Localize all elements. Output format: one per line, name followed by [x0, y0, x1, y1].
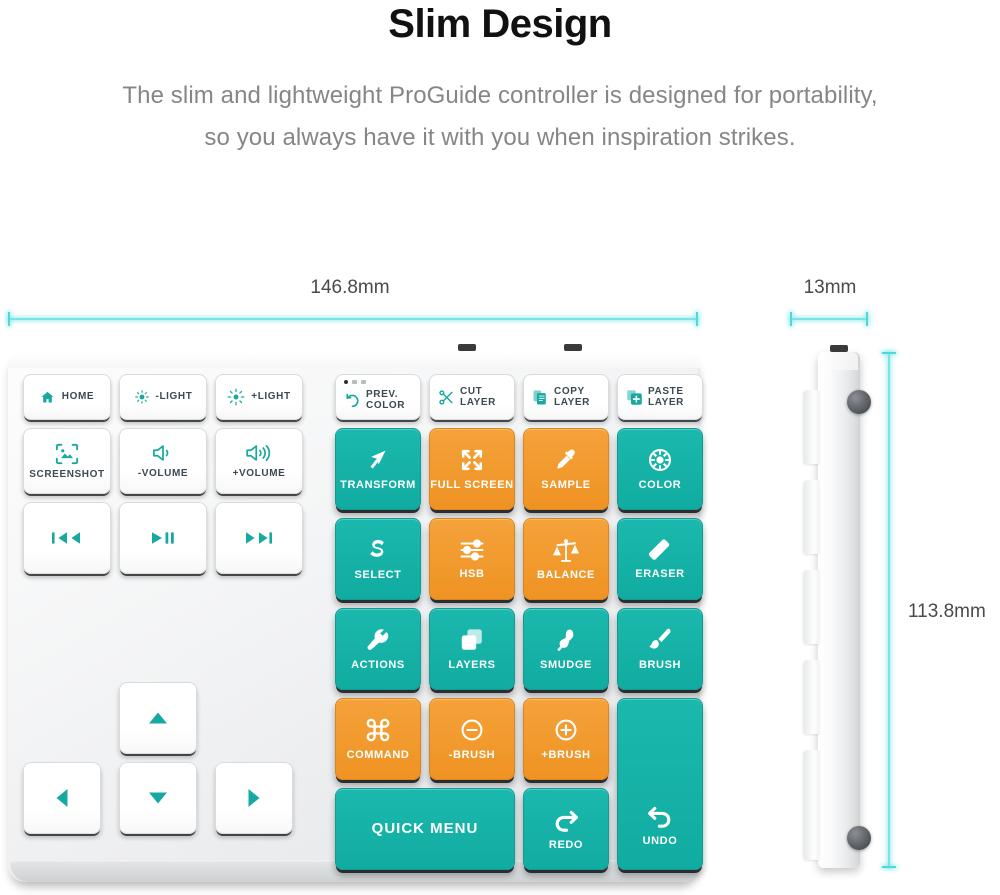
- previous-track-icon: [50, 528, 84, 548]
- key-label: SELECT: [355, 570, 402, 582]
- key-label: ERASER: [635, 569, 684, 581]
- side-rubber-foot-bottom: [847, 826, 871, 850]
- eyedropper-icon: [553, 447, 579, 473]
- side-key-edge: [804, 660, 820, 734]
- key-label: TRANSFORM: [340, 480, 416, 492]
- key-redo[interactable]: REDO: [523, 788, 609, 870]
- key-cut-layer[interactable]: CUT LAYER: [429, 374, 515, 420]
- key-brush[interactable]: BRUSH: [617, 608, 703, 690]
- subtitle-line-2: so you always have it with you when insp…: [0, 117, 1000, 159]
- arrow-down-icon: [146, 790, 170, 806]
- side-rubber-foot-top: [847, 390, 871, 414]
- key-brush-up[interactable]: +BRUSH: [523, 698, 609, 780]
- key-arrow-left[interactable]: [23, 762, 101, 834]
- key-hsb[interactable]: HSB: [429, 518, 515, 600]
- key-label: SMUDGE: [540, 660, 592, 672]
- cursor-arrow-icon: [365, 447, 391, 473]
- arrow-up-icon: [146, 710, 170, 726]
- key-label: -VOLUME: [138, 469, 188, 480]
- key-smudge[interactable]: SMUDGE: [523, 608, 609, 690]
- dimension-cap-bottom: [882, 866, 896, 868]
- key-play-pause[interactable]: [119, 502, 207, 574]
- key-label: BALANCE: [537, 570, 595, 582]
- selection-s-icon: [366, 537, 390, 563]
- key-label: COPY LAYER: [554, 386, 590, 408]
- key-copy-layer[interactable]: COPY LAYER: [523, 374, 609, 420]
- dimension-bar: [790, 318, 868, 320]
- brightness-down-icon: [134, 389, 150, 405]
- key-label: HSB: [459, 569, 484, 581]
- scales-icon: [552, 537, 580, 563]
- key-volume-up[interactable]: +VOLUME: [215, 428, 303, 494]
- key-actions[interactable]: ACTIONS: [335, 608, 421, 690]
- key-label: +LIGHT: [251, 392, 290, 403]
- copy-document-icon: [532, 389, 549, 406]
- key-label: FULL SCREEN: [430, 480, 513, 492]
- key-paste-layer[interactable]: PASTE LAYER: [617, 374, 703, 420]
- layers-icon: [459, 627, 485, 653]
- smudge-icon: [553, 627, 579, 653]
- key-arrow-up[interactable]: [119, 682, 197, 754]
- home-icon: [40, 390, 55, 405]
- height-dimension-label: 113.8mm: [908, 601, 986, 623]
- key-brush-down[interactable]: -BRUSH: [429, 698, 515, 780]
- volume-up-icon: [244, 443, 274, 463]
- controller-top-edge: [8, 352, 700, 368]
- key-label: +BRUSH: [541, 750, 590, 762]
- key-light-down[interactable]: -LIGHT: [119, 374, 207, 420]
- key-label: CUT LAYER: [460, 386, 496, 408]
- minus-circle-icon: [459, 717, 485, 743]
- side-connector-mark: [830, 345, 848, 352]
- key-screenshot[interactable]: SCREENSHOT: [23, 428, 111, 494]
- key-label: PASTE LAYER: [648, 386, 684, 408]
- sliders-icon: [459, 538, 485, 562]
- dimension-bar: [8, 318, 698, 320]
- next-track-icon: [242, 528, 276, 548]
- dimension-cap-left: [8, 312, 10, 326]
- key-undo[interactable]: UNDO: [617, 698, 703, 870]
- key-label: UNDO: [643, 836, 678, 848]
- key-label: PREV. COLOR: [366, 389, 405, 411]
- dimension-cap-right: [696, 312, 698, 326]
- dimension-cap-top: [882, 352, 896, 354]
- color-wheel-icon: [647, 447, 673, 473]
- volume-down-icon: [150, 443, 176, 463]
- thickness-dimension-label: 13mm: [770, 277, 890, 299]
- battery-indicator-icon: [352, 380, 357, 384]
- side-key-edge: [804, 390, 820, 464]
- key-sample[interactable]: SAMPLE: [523, 428, 609, 510]
- key-label: SAMPLE: [541, 480, 590, 492]
- eraser-icon: [646, 538, 674, 562]
- undo-arrow-icon: [344, 392, 361, 409]
- key-label: HOME: [62, 392, 94, 403]
- key-label: REDO: [549, 840, 583, 852]
- dimension-cap-right: [866, 312, 868, 326]
- command-icon: [365, 717, 391, 743]
- dimension-bar: [888, 352, 890, 868]
- key-prev-color[interactable]: PREV. COLOR: [335, 374, 421, 420]
- arrow-left-icon: [54, 786, 70, 810]
- led-indicators: [344, 380, 366, 384]
- key-quick-menu[interactable]: QUICK MENU: [335, 788, 515, 870]
- page-subtitle: The slim and lightweight ProGuide contro…: [0, 75, 1000, 159]
- redo-arrow-icon: [552, 807, 580, 833]
- key-balance[interactable]: BALANCE: [523, 518, 609, 600]
- key-full-screen[interactable]: FULL SCREEN: [429, 428, 515, 510]
- undo-arrow-icon: [646, 803, 674, 829]
- key-label: +VOLUME: [233, 469, 286, 480]
- key-transform[interactable]: TRANSFORM: [335, 428, 421, 510]
- key-layers[interactable]: LAYERS: [429, 608, 515, 690]
- key-label: LAYERS: [448, 660, 495, 672]
- bluetooth-indicator-icon: [361, 380, 366, 384]
- controller-top-view: JCPAL HOME -LIGHT: [8, 352, 700, 882]
- product-feature-page: Slim Design The slim and lightweight Pro…: [0, 0, 1000, 895]
- led-dot-icon: [344, 380, 348, 384]
- subtitle-line-1: The slim and lightweight ProGuide contro…: [122, 82, 877, 109]
- key-label: ACTIONS: [351, 660, 405, 672]
- paintbrush-icon: [647, 627, 673, 653]
- key-label: QUICK MENU: [372, 821, 479, 837]
- brightness-up-icon: [227, 388, 245, 406]
- key-label: -BRUSH: [449, 750, 495, 762]
- expand-arrows-icon: [459, 447, 485, 473]
- key-command[interactable]: COMMAND: [335, 698, 421, 780]
- key-home[interactable]: HOME: [23, 374, 111, 420]
- width-dimension-line: [8, 312, 698, 326]
- top-connector-mark-right: [564, 344, 582, 351]
- dimension-cap-left: [790, 312, 792, 326]
- key-color[interactable]: COLOR: [617, 428, 703, 510]
- key-light-up[interactable]: +LIGHT: [215, 374, 303, 420]
- key-label: COMMAND: [347, 750, 410, 762]
- key-label: COLOR: [639, 480, 682, 492]
- side-key-edge: [804, 570, 820, 644]
- top-connector-mark-left: [458, 344, 476, 351]
- key-label: SCREENSHOT: [29, 470, 104, 481]
- height-dimension-line: [882, 352, 896, 868]
- side-key-edge: [804, 750, 820, 860]
- key-arrow-right[interactable]: [215, 762, 293, 834]
- key-volume-down[interactable]: -VOLUME: [119, 428, 207, 494]
- key-select[interactable]: SELECT: [335, 518, 421, 600]
- wrench-icon: [365, 627, 391, 653]
- arrow-right-icon: [246, 786, 262, 810]
- key-previous-track[interactable]: [23, 502, 111, 574]
- key-next-track[interactable]: [215, 502, 303, 574]
- page-title: Slim Design: [0, 0, 1000, 48]
- key-label: -LIGHT: [156, 392, 193, 403]
- side-top-cap: [820, 352, 858, 370]
- screenshot-icon: [54, 442, 80, 466]
- key-eraser[interactable]: ERASER: [617, 518, 703, 600]
- plus-circle-icon: [553, 717, 579, 743]
- controller-side-view: [818, 352, 860, 868]
- key-arrow-down[interactable]: [119, 762, 197, 834]
- side-key-edge: [804, 480, 820, 554]
- paste-plus-icon: [626, 389, 643, 406]
- key-label: BRUSH: [639, 660, 681, 672]
- thickness-dimension-line: [790, 312, 868, 326]
- play-pause-icon: [148, 528, 178, 548]
- width-dimension-label: 146.8mm: [0, 277, 700, 299]
- scissors-icon: [438, 389, 455, 406]
